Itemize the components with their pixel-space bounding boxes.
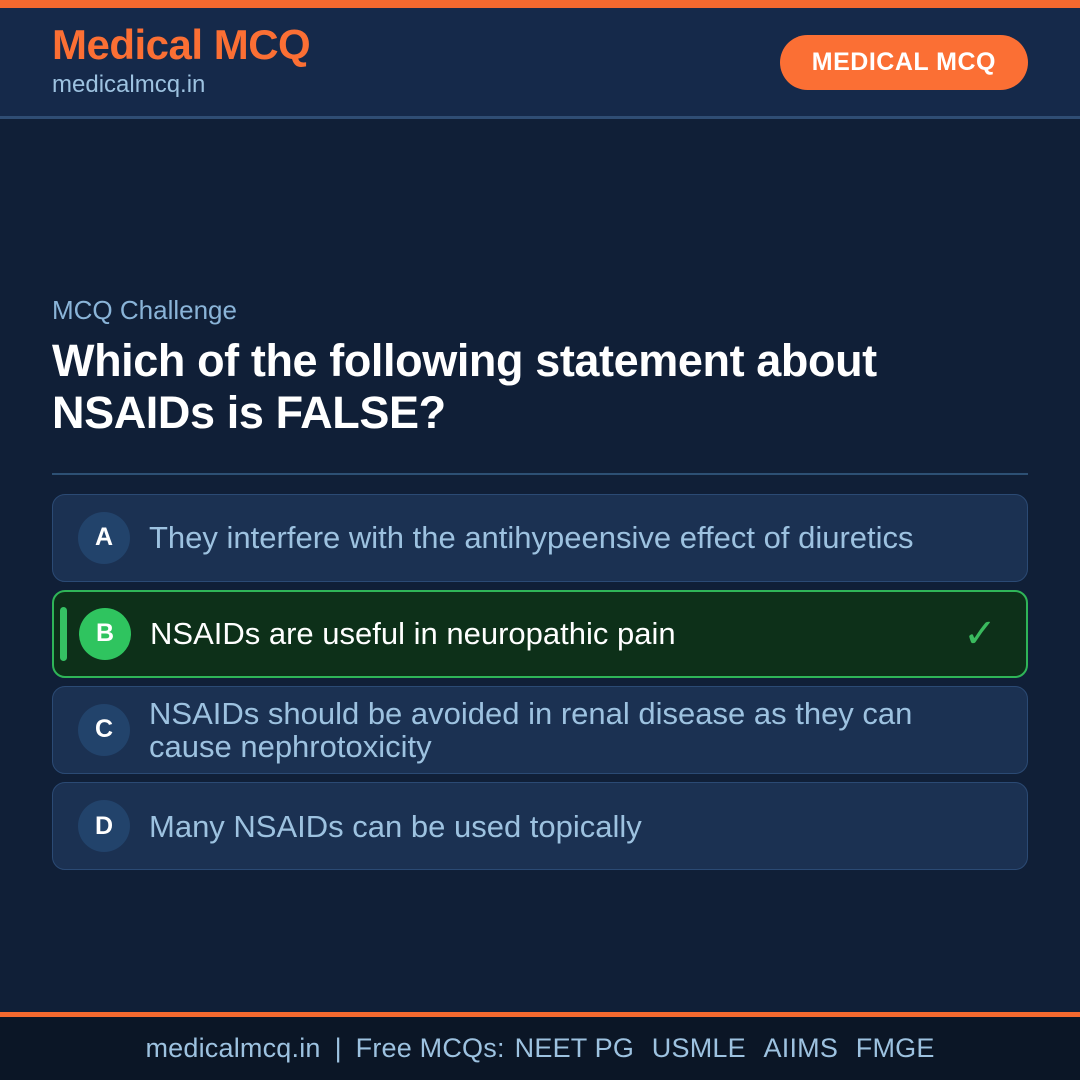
brand-title: Medical MCQ	[52, 23, 310, 67]
question-text: Which of the following statement about N…	[52, 335, 1028, 440]
footer-exam-fmge: FMGE	[856, 1033, 935, 1063]
footer-label: Free MCQs:	[356, 1033, 505, 1064]
option-c-text: NSAIDs should be avoided in renal diseas…	[149, 697, 959, 763]
header-badge: MEDICAL MCQ	[780, 35, 1028, 90]
option-c-badge: C	[78, 704, 130, 756]
page-header: Medical MCQ medicalmcq.in MEDICAL MCQ	[0, 8, 1080, 119]
option-d-text: Many NSAIDs can be used topically	[149, 810, 959, 843]
page-footer: medicalmcq.in | Free MCQs: NEET PG USMLE…	[0, 1012, 1080, 1080]
footer-separator: |	[321, 1033, 356, 1064]
main-content: MCQ Challenge Which of the following sta…	[0, 119, 1080, 1012]
brand-block: Medical MCQ medicalmcq.in	[52, 23, 310, 100]
footer-exam-aiims: AIIMS	[764, 1033, 839, 1063]
brand-subtitle: medicalmcq.in	[52, 69, 310, 100]
check-icon: ✓	[958, 614, 1002, 654]
footer-exam-usmle: USMLE	[652, 1033, 746, 1063]
footer-exam-list: NEET PG USMLE AIIMS FMGE	[505, 1033, 935, 1064]
footer-site[interactable]: medicalmcq.in	[145, 1033, 320, 1064]
option-b-accent-bar	[60, 607, 67, 661]
option-a-text: They interfere with the antihypeensive e…	[149, 521, 959, 554]
option-d-badge: D	[78, 800, 130, 852]
footer-exam-neet-pg: NEET PG	[515, 1033, 634, 1063]
option-a[interactable]: A They interfere with the antihypeensive…	[52, 494, 1028, 582]
top-accent-bar	[0, 0, 1080, 8]
options-list: A They interfere with the antihypeensive…	[52, 494, 1028, 870]
question-block: MCQ Challenge Which of the following sta…	[52, 294, 1028, 440]
option-c[interactable]: C NSAIDs should be avoided in renal dise…	[52, 686, 1028, 774]
option-b[interactable]: B NSAIDs are useful in neuropathic pain …	[52, 590, 1028, 678]
option-b-badge: B	[79, 608, 131, 660]
question-divider	[52, 473, 1028, 475]
question-kicker: MCQ Challenge	[52, 294, 1028, 327]
option-b-text: NSAIDs are useful in neuropathic pain	[150, 617, 958, 650]
option-d[interactable]: D Many NSAIDs can be used topically	[52, 782, 1028, 870]
option-a-badge: A	[78, 512, 130, 564]
